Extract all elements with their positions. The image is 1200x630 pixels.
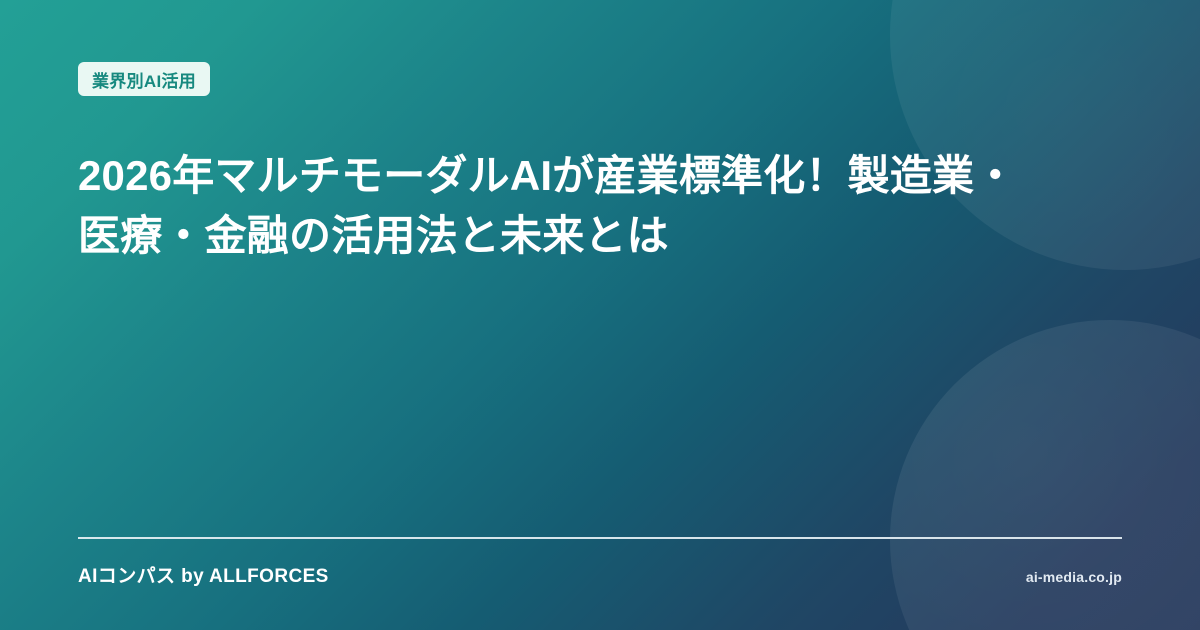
footer-row: AIコンパス by ALLFORCES ai-media.co.jp [78,561,1122,588]
category-badge: 業界別AI活用 [78,62,210,96]
page-title-line-2: 医療・金融の活用法と未来とは [78,206,1126,266]
site-url: ai-media.co.jp [1026,569,1122,585]
category-badge-label: 業界別AI活用 [92,67,196,92]
card-footer: AIコンパス by ALLFORCES ai-media.co.jp [78,537,1122,588]
page-title-line-1: 2026年マルチモーダルAIが産業標準化！製造業・ [78,146,1126,206]
page-title: 2026年マルチモーダルAIが産業標準化！製造業・ 医療・金融の活用法と未来とは [78,146,1126,265]
brand-name: AIコンパス by ALLFORCES [78,561,329,588]
og-card: 業界別AI活用 2026年マルチモーダルAIが産業標準化！製造業・ 医療・金融の… [0,0,1200,630]
footer-divider [78,537,1122,539]
